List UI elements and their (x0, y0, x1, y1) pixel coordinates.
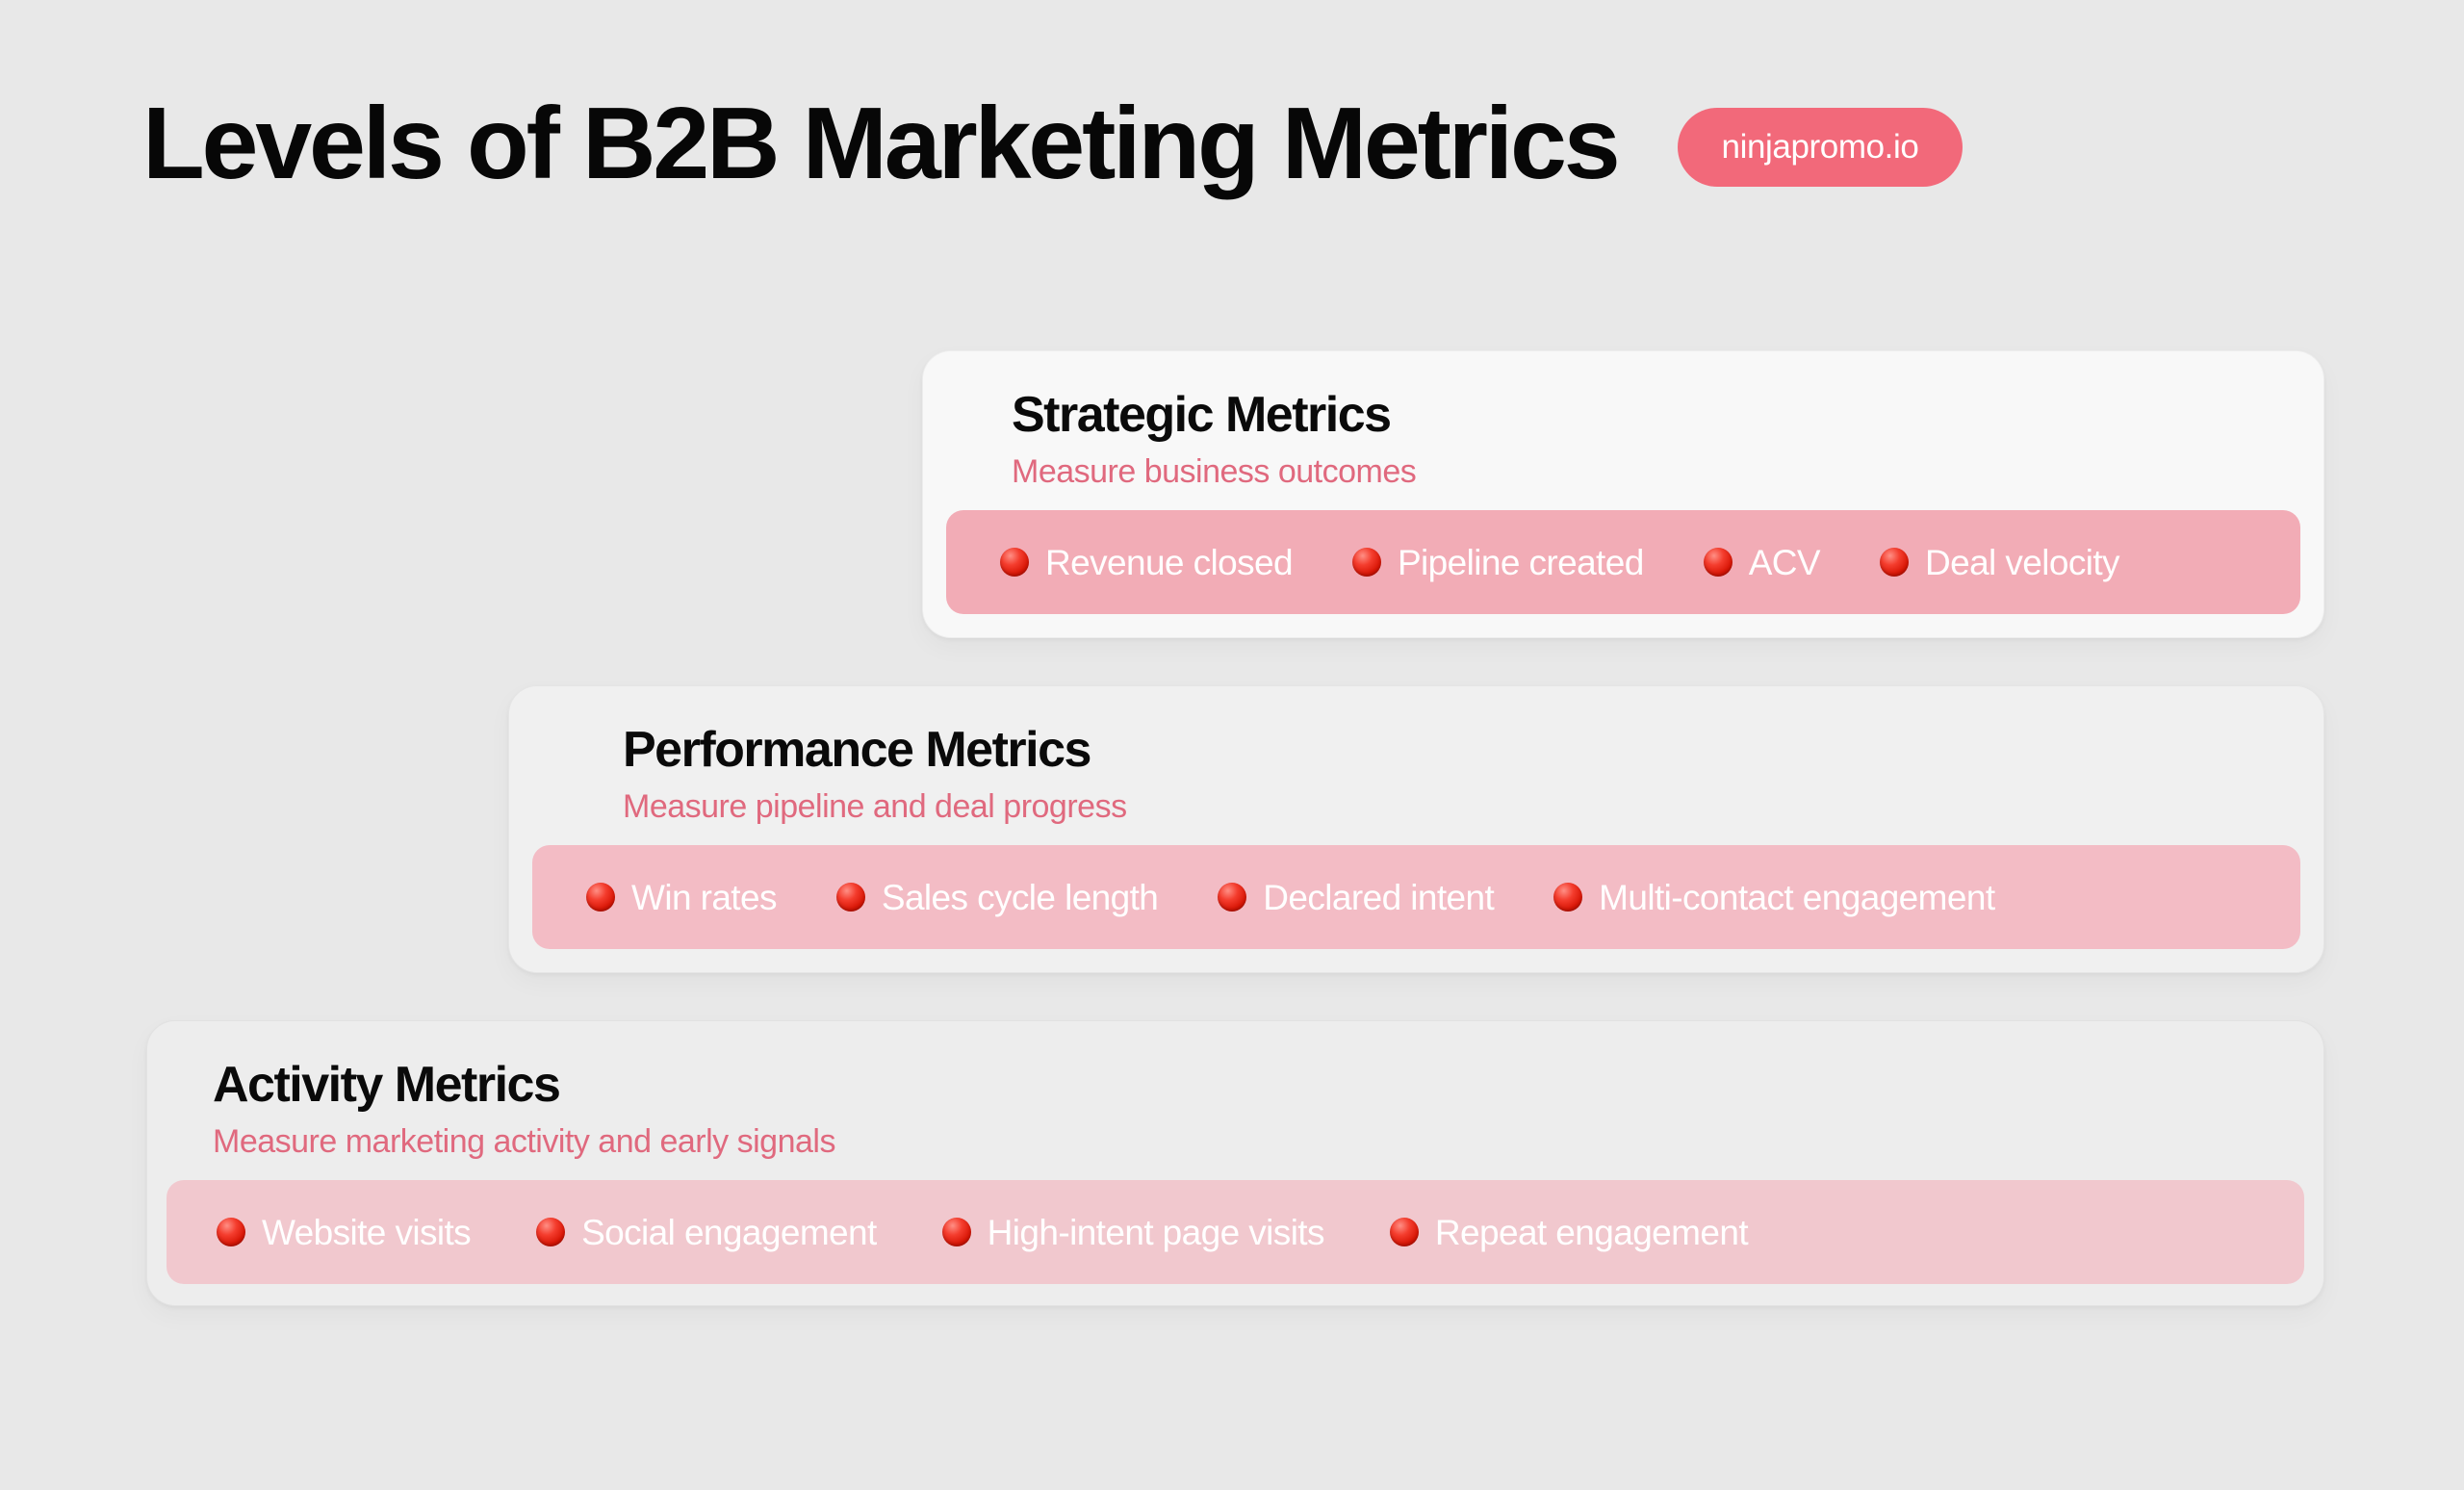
red-circle-icon (1880, 548, 1909, 577)
metric-chip[interactable]: High-intent page visits (942, 1215, 1324, 1250)
metric-chip-band-strategic: Revenue closed Pipeline created ACV Deal… (946, 510, 2300, 614)
level-card-activity: Activity Metrics Measure marketing activ… (146, 1020, 2324, 1306)
metric-levels-stack: Strategic Metrics Measure business outco… (0, 0, 2464, 1490)
card-title: Performance Metrics (623, 723, 2266, 777)
card-header-performance: Performance Metrics Measure pipeline and… (509, 686, 2323, 845)
metric-chip[interactable]: Revenue closed (1000, 545, 1293, 580)
metric-chip-label: Sales cycle length (882, 880, 1158, 915)
metric-chip-label: Pipeline created (1398, 545, 1644, 580)
metric-chip-label: Multi-contact engagement (1599, 880, 1994, 915)
metric-chip[interactable]: ACV (1704, 545, 1820, 580)
metric-chip-label: Repeat engagement (1435, 1215, 1748, 1250)
red-circle-icon (1218, 883, 1246, 912)
level-card-performance: Performance Metrics Measure pipeline and… (508, 685, 2324, 973)
red-circle-icon (836, 883, 865, 912)
metric-chip-label: Website visits (262, 1215, 471, 1250)
card-header-activity: Activity Metrics Measure marketing activ… (147, 1021, 2323, 1180)
metric-chip[interactable]: Declared intent (1218, 880, 1494, 915)
metric-chip-label: High-intent page visits (988, 1215, 1324, 1250)
red-circle-icon (1390, 1218, 1419, 1246)
metric-chip[interactable]: Repeat engagement (1390, 1215, 1748, 1250)
card-title: Activity Metrics (213, 1058, 2266, 1112)
metric-chip-label: Declared intent (1263, 880, 1494, 915)
card-title: Strategic Metrics (1012, 388, 2266, 442)
card-subtitle: Measure business outcomes (1012, 453, 2266, 491)
red-circle-icon (1352, 548, 1381, 577)
metric-chip-label: Revenue closed (1045, 545, 1293, 580)
red-circle-icon (536, 1218, 565, 1246)
metric-chip-band-performance: Win rates Sales cycle length Declared in… (532, 845, 2300, 949)
metric-chip-label: Social engagement (581, 1215, 877, 1250)
metric-chip[interactable]: Social engagement (536, 1215, 877, 1250)
card-header-strategic: Strategic Metrics Measure business outco… (923, 351, 2323, 510)
metric-chip[interactable]: Sales cycle length (836, 880, 1158, 915)
metric-chip[interactable]: Multi-contact engagement (1553, 880, 1994, 915)
metric-chip[interactable]: Pipeline created (1352, 545, 1644, 580)
metric-chip-band-activity: Website visits Social engagement High-in… (167, 1180, 2304, 1284)
red-circle-icon (1553, 883, 1582, 912)
metric-chip-label: Win rates (631, 880, 777, 915)
level-card-strategic: Strategic Metrics Measure business outco… (922, 350, 2324, 638)
red-circle-icon (1000, 548, 1029, 577)
metric-chip[interactable]: Deal velocity (1880, 545, 2119, 580)
red-circle-icon (586, 883, 615, 912)
metric-chip-label: ACV (1749, 545, 1820, 580)
card-subtitle: Measure marketing activity and early sig… (213, 1123, 2266, 1161)
metric-chip[interactable]: Website visits (217, 1215, 471, 1250)
metric-chip[interactable]: Win rates (586, 880, 777, 915)
card-subtitle: Measure pipeline and deal progress (623, 788, 2266, 826)
red-circle-icon (217, 1218, 245, 1246)
red-circle-icon (1704, 548, 1732, 577)
metric-chip-label: Deal velocity (1925, 545, 2119, 580)
red-circle-icon (942, 1218, 971, 1246)
